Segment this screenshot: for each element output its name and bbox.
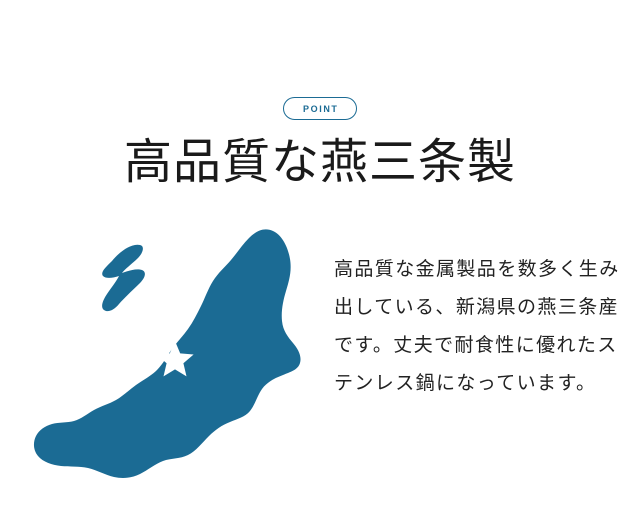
niigata-prefecture-map bbox=[16, 225, 316, 490]
point-badge: POINT bbox=[283, 97, 357, 120]
promo-panel: POINT 高品質な燕三条製 高品質な金属製品を数多く生み出している、新潟県の燕… bbox=[0, 0, 640, 529]
point-badge-label: POINT bbox=[301, 104, 338, 114]
sado-island-shape bbox=[102, 245, 145, 311]
description-paragraph: 高品質な金属製品を数多く生み出している、新潟県の燕三条産です。丈夫で耐食性に優れ… bbox=[334, 250, 630, 402]
description-text: 高品質な金属製品を数多く生み出している、新潟県の燕三条産です。丈夫で耐食性に優れ… bbox=[334, 250, 630, 402]
page-title: 高品質な燕三条製 bbox=[0, 131, 640, 193]
